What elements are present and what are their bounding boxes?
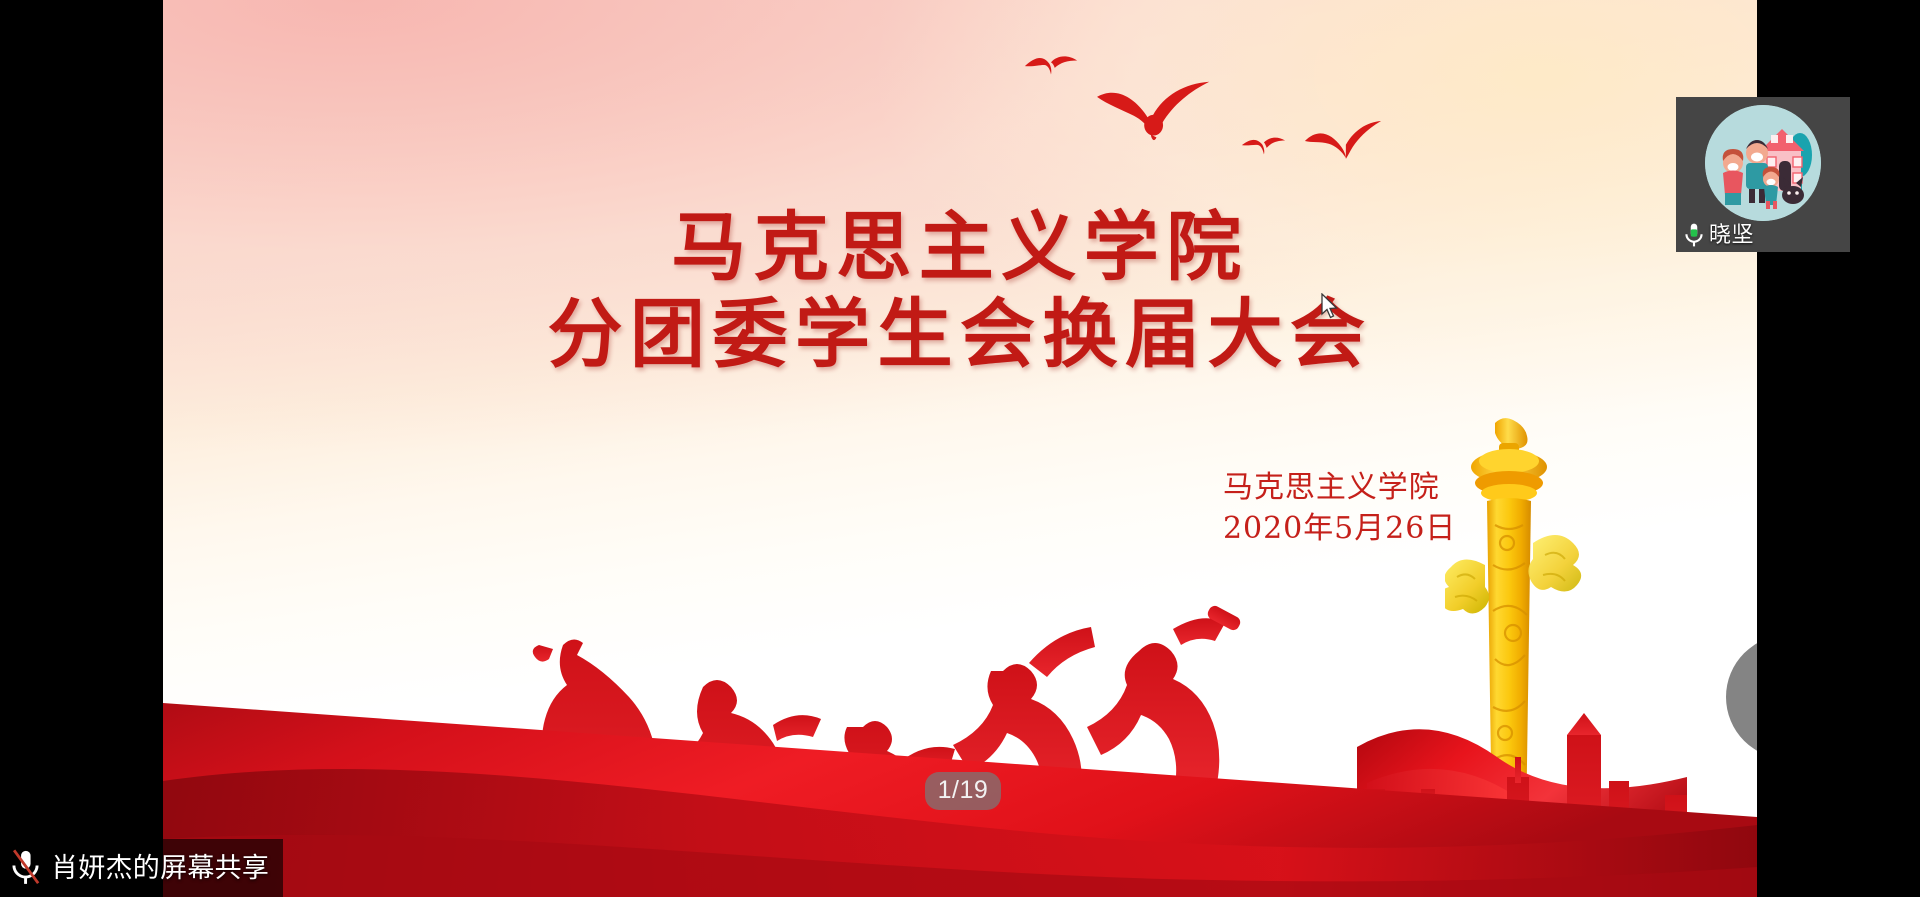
bird-icon: [1093, 78, 1218, 144]
participant-label: 晓坚: [1684, 222, 1754, 248]
mouse-cursor: [1320, 293, 1340, 321]
shared-screen-slide[interactable]: 马克思主义学院 分团委学生会换届大会 马克思主义学院 2020年5月26日: [163, 0, 1757, 897]
avatar: [1705, 105, 1821, 221]
zoom-meeting-window: 马克思主义学院 分团委学生会换届大会 马克思主义学院 2020年5月26日: [0, 0, 1920, 897]
screen-share-label: 肖妍杰的屏幕共享: [51, 855, 269, 882]
mic-active-icon: [1684, 222, 1704, 248]
bottom-wave-decoration: [163, 567, 1757, 897]
bird-icon: [1303, 118, 1383, 162]
signature-date: 2020年5月26日: [1223, 509, 1456, 550]
slide-page-indicator: 1/19: [925, 772, 1001, 810]
screen-share-banner: 肖妍杰的屏幕共享: [0, 839, 283, 897]
participant-name: 晓坚: [1709, 224, 1754, 246]
slide-background-warm-glow: [769, 0, 1757, 413]
family-house-avatar-icon: [1705, 105, 1821, 221]
mic-muted-icon: [1751, 660, 1757, 734]
slide-signature-block: 马克思主义学院 2020年5月26日: [1223, 468, 1456, 549]
participant-thumbnail[interactable]: 晓坚: [1676, 97, 1850, 252]
bird-icon: [1023, 52, 1079, 82]
bird-icon: [1240, 134, 1286, 160]
signature-organization: 马克思主义学院: [1223, 468, 1456, 509]
mic-muted-icon: [10, 849, 41, 887]
